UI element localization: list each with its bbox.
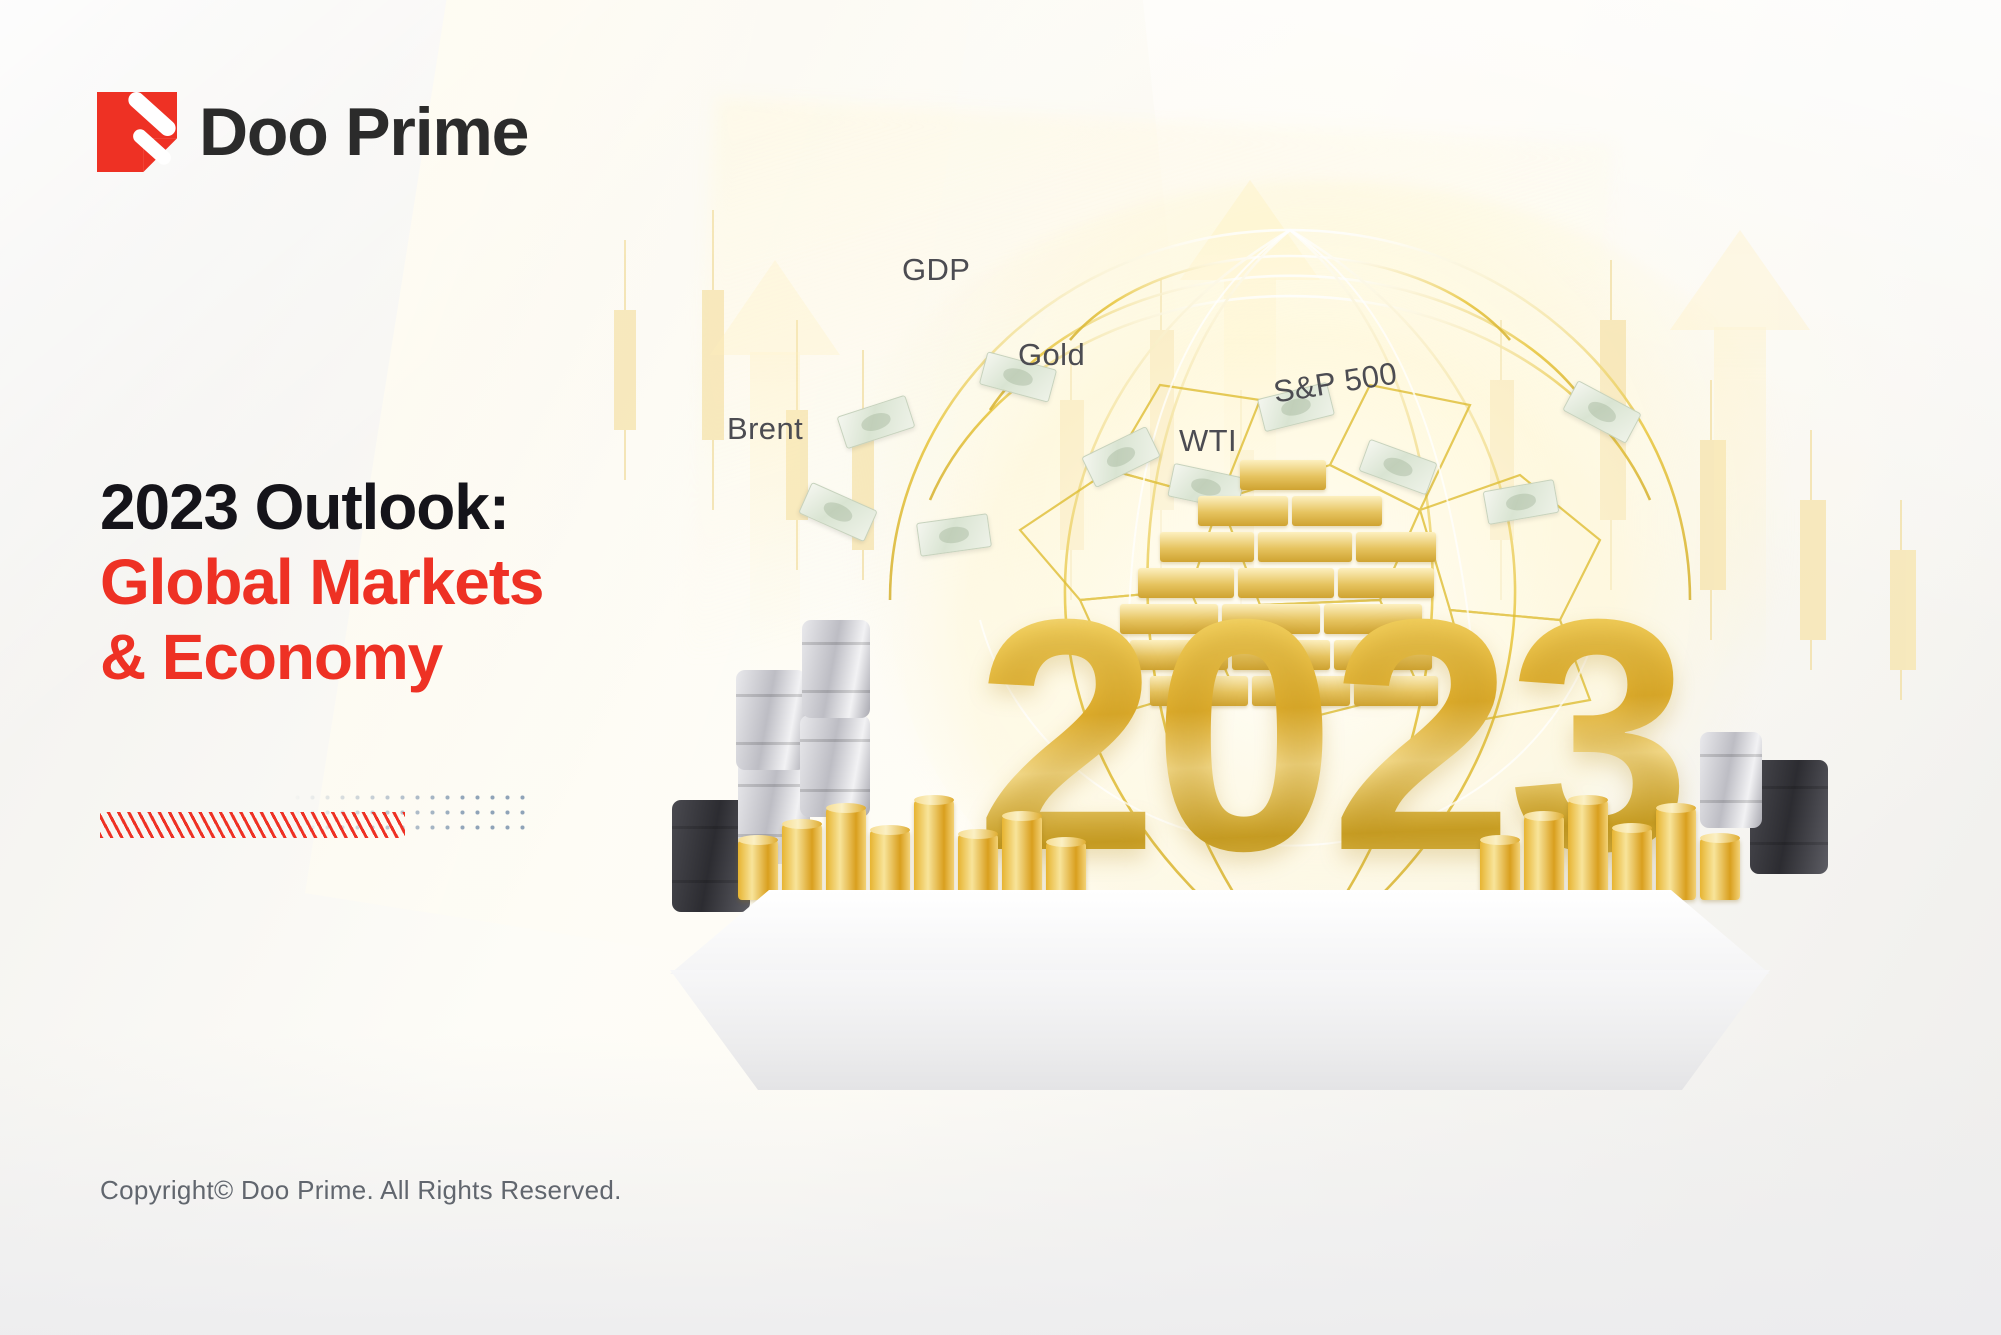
label-gdp: GDP: [902, 252, 970, 288]
brand-name: Doo Prime: [199, 98, 528, 166]
oil-barrel-icon: [800, 715, 870, 817]
podium-icon: [630, 890, 1810, 1140]
coin-stack-icon: [1656, 808, 1696, 900]
diagonal-stripe-pattern: [100, 812, 405, 838]
oil-barrel-icon: [736, 670, 806, 770]
headline-line-2: Global Markets: [100, 545, 543, 620]
coin-stack-icon: [782, 824, 822, 900]
oil-barrel-icon: [1700, 732, 1762, 828]
page-title: 2023 Outlook: Global Markets & Economy: [100, 470, 543, 695]
headline-line-1: 2023 Outlook:: [100, 470, 543, 545]
hero-illustration: 2023 GDP Gold S&P 500 Brent WTI: [690, 140, 1970, 1180]
coin-stack-icon: [1002, 816, 1042, 900]
up-arrow-icon: [710, 260, 840, 680]
coin-stack-icon: [1568, 800, 1608, 900]
promo-banner: Doo Prime 2023 Outlook: Global Markets &…: [0, 0, 2001, 1335]
oil-barrel-icon: [802, 620, 870, 718]
label-brent: Brent: [727, 411, 803, 447]
decorative-divider: [100, 790, 530, 850]
headline-line-3: & Economy: [100, 620, 543, 695]
label-gold: Gold: [1018, 337, 1085, 373]
coin-stack-icon: [914, 800, 954, 900]
doo-prime-mark-icon: [97, 92, 177, 172]
coin-stack-icon: [826, 808, 866, 900]
coin-stack-icon: [1524, 816, 1564, 900]
label-wti: WTI: [1179, 423, 1237, 459]
brand-logo[interactable]: Doo Prime: [97, 92, 528, 172]
copyright-text: Copyright© Doo Prime. All Rights Reserve…: [100, 1175, 622, 1206]
